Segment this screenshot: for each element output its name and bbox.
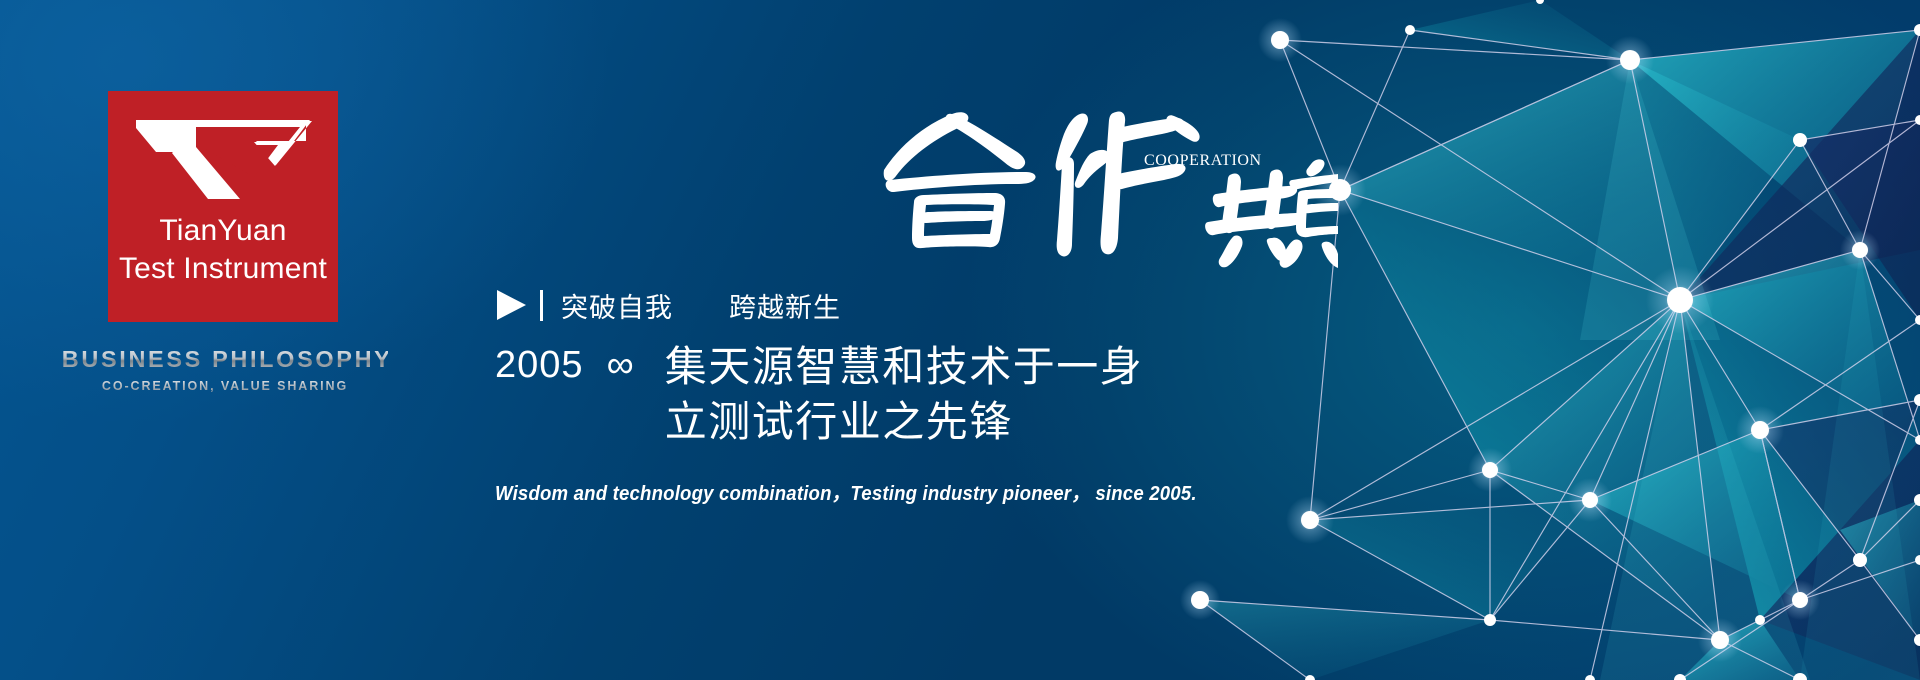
logo-card: TianYuan Test Instrument: [108, 91, 338, 322]
banner-root: TianYuan Test Instrument BUSINESS PHILOS…: [0, 0, 1920, 680]
philosophy-subtitle: CO-CREATION, VALUE SHARING: [65, 379, 385, 393]
headline-line-1: 集天源智慧和技术于一身: [665, 339, 1255, 394]
headline-year: 2005 ∞: [495, 339, 635, 391]
philosophy-title: BUSINESS PHILOSOPHY: [62, 346, 388, 373]
play-triangle-icon: [495, 289, 528, 321]
cooperation-label: COOPERATION: [1144, 152, 1262, 170]
eyebrow-row: 突破自我 跨越新生: [495, 287, 1255, 323]
calligraphy-cooperation-win-win: [868, 98, 1338, 268]
business-philosophy-block: BUSINESS PHILOSOPHY CO-CREATION, VALUE S…: [65, 346, 385, 393]
headline-row: 2005 ∞ 集天源智慧和技术于一身 立测试行业之先锋: [495, 339, 1255, 449]
ty-monogram-icon: [134, 111, 312, 199]
brand-logo-block: TianYuan Test Instrument: [108, 91, 338, 322]
eyebrow-divider: [540, 290, 543, 321]
headline-line-2: 立测试行业之先锋: [665, 394, 1255, 449]
slogan-block: 突破自我 跨越新生 2005 ∞ 集天源智慧和技术于一身 立测试行业之先锋 Wi…: [495, 287, 1255, 506]
headline-lines: 集天源智慧和技术于一身 立测试行业之先锋: [665, 339, 1255, 449]
logo-name-line2: Test Instrument: [119, 253, 327, 285]
logo-name-line1: TianYuan: [159, 215, 286, 247]
english-subtitle: Wisdom and technology combination，Testin…: [495, 477, 1202, 506]
eyebrow-text: 突破自我 跨越新生: [561, 286, 841, 325]
